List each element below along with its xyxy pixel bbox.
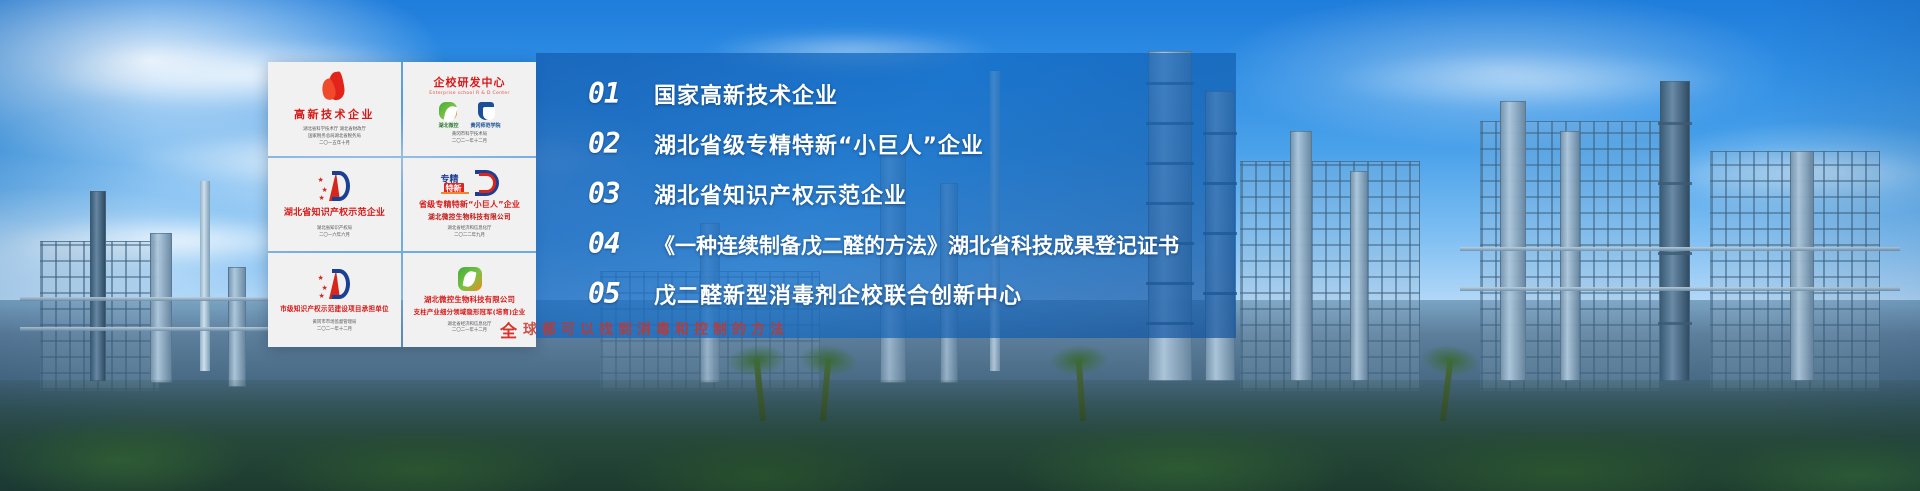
achievement-text: 戊二醛新型消毒剂企校联合创新中心 [654,278,1022,310]
certificate-card[interactable]: 企校研发中心 Enterprise school R & D Center 湖北… [403,62,536,156]
certificate-title: 企校研发中心 [434,74,506,90]
certificate-meta: 黄冈市市场监督管理局 二〇二一年十二月 [313,320,357,333]
certificate-date: 二〇二一年十二月 [448,328,492,335]
certificate-card[interactable]: 专精特新 省级专精特新“小巨人”企业 湖北微控生物科技有限公司 湖北省经济和信息… [403,158,536,252]
green-leaf-icon [458,266,482,292]
certificate-title: 高新技术企业 [294,106,375,122]
certificate-issuer: 黄冈市科学技术局 [452,132,487,139]
plant-tower [1560,131,1580,381]
certificate-date: 二〇二一年十二月 [452,139,487,146]
achievement-text: 国家高新技术企业 [654,78,838,110]
certificate-meta: 湖北省科学技术厅 湖北省财政厅 国家税务总局湖北省税务局 二〇一五年十月 [303,127,366,147]
achievement-item: 05 戊二醛新型消毒剂企校联合创新中心 [588,277,1236,319]
vegetation-foreground [0,380,1920,491]
certificate-date: 二〇一五年十月 [303,141,366,148]
plant-tower [1500,101,1526,381]
zhuanjing-texin-icon: 专精特新 [441,169,499,197]
certificate-meta: 湖北省经济和信息化厅 二〇二二年九月 [448,226,492,239]
certificate-issuer: 湖北省经济和信息化厅 [448,226,492,233]
plant-pipe [20,297,280,301]
certificate-meta: 湖北省经济和信息化厅 二〇二一年十二月 [448,322,492,335]
plant-stack [200,181,210,371]
certificate-meta: 黄冈市科学技术局 二〇二一年十二月 [452,132,487,145]
ip-star-icon: ★ ★ ★ [318,169,352,203]
plant-structure-center [1240,161,1420,391]
achievement-number: 04 [588,227,632,260]
certificate-meta: 湖北省知识产权局 二〇一六年六月 [317,226,352,239]
certificate-title: 市级知识产权示范建设项目承担单位 [280,303,389,313]
certificate-card[interactable]: ★ ★ ★ 市级知识产权示范建设项目承担单位 黄冈市市场监督管理局 二〇二一年十… [268,253,401,347]
achievement-item: 04 《一种连续制备戊二醛的方法》湖北省科技成果登记证书 [588,227,1236,269]
achievement-number: 01 [588,77,632,110]
certificate-card[interactable]: ★ ★ ★ 湖北省知识产权示范企业 湖北省知识产权局 二〇一六年六月 [268,158,401,252]
honors-banner: 高新技术企业 湖北省科学技术厅 湖北省财政厅 国家税务总局湖北省税务局 二〇一五… [0,0,1920,491]
achievement-number: 03 [588,177,632,210]
achievement-text: 《一种连续制备戊二醛的方法》湖北省科技成果登记证书 [654,230,1179,260]
plant-tower [1350,171,1368,381]
certificate-subtitle: 支柱产业细分领域隐形冠军(培育)企业 [414,307,526,316]
certificate-issuer-2: 国家税务总局湖北省税务局 [303,134,366,141]
certificate-grid: 高新技术企业 湖北省科学技术厅 湖北省财政厅 国家税务总局湖北省税务局 二〇一五… [268,62,536,347]
achievement-text: 湖北省级专精特新“小巨人”企业 [654,128,984,160]
plant-tower [1660,81,1690,381]
ip-star-icon: ★ ★ ★ [318,267,352,301]
certificate-issuer: 湖北省知识产权局 [317,226,352,233]
achievement-item: 02 湖北省级专精特新“小巨人”企业 [588,127,1236,169]
plant-tower [1290,131,1312,381]
certificate-date: 二〇二二年九月 [448,233,492,240]
achievements-panel: 01 国家高新技术企业 02 湖北省级专精特新“小巨人”企业 03 湖北省知识产… [536,53,1236,338]
achievements-list: 01 国家高新技术企业 02 湖北省级专精特新“小巨人”企业 03 湖北省知识产… [536,77,1236,319]
flame-icon [322,70,348,104]
achievement-number: 05 [588,277,632,310]
certificate-date: 二〇二一年十二月 [313,327,357,334]
certificate-company: 湖北微控生物科技有限公司 [428,211,511,221]
achievement-number: 02 [588,127,632,160]
certificate-card[interactable]: 湖北微控生物科技有限公司 支柱产业细分领域隐形冠军(培育)企业 湖北省经济和信息… [403,253,536,347]
certificate-title-en: Enterprise school R & D Center [429,91,509,96]
plant-tower [90,191,106,381]
plant-tower [1790,151,1814,381]
certificate-issuer: 黄冈市市场监督管理局 [313,320,357,327]
plant-pipe [1460,287,1900,291]
achievement-item: 03 湖北省知识产权示范企业 [588,177,1236,219]
dual-logo-icon: 湖北微控 黄冈师范学院 [438,99,500,129]
certificate-date: 二〇一六年六月 [317,233,352,240]
partner-label-right: 黄冈师范学院 [471,122,501,129]
achievement-text: 湖北省知识产权示范企业 [654,178,907,210]
certificate-title: 湖北省知识产权示范企业 [284,205,385,218]
achievement-item: 01 国家高新技术企业 [588,77,1236,119]
certificate-title: 湖北微控生物科技有限公司 [424,294,515,305]
certificate-card[interactable]: 高新技术企业 湖北省科学技术厅 湖北省财政厅 国家税务总局湖北省税务局 二〇一五… [268,62,401,156]
plant-pipe [1460,247,1900,251]
plant-tower [150,233,172,383]
certificate-title: 省级专精特新“小巨人”企业 [419,199,520,210]
partner-label-left: 湖北微控 [438,122,458,129]
